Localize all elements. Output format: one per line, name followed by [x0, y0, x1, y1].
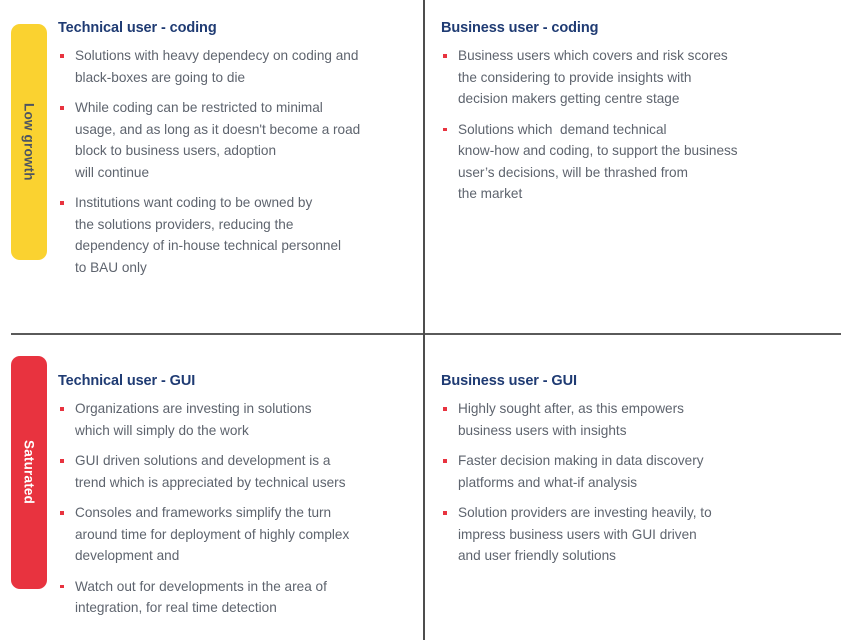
list-item: Highly sought after, as this empowers bu…: [441, 398, 801, 441]
list-item: Organizations are investing in solutions…: [58, 398, 406, 441]
quadrant-content: Technical user - coding Solutions with h…: [58, 20, 406, 278]
panel-title: Technical user - coding: [58, 20, 406, 36]
quadrant-business-user-coding: Medium growth Business user - coding Bus…: [425, 0, 852, 333]
list-item: Watch out for developments in the area o…: [58, 576, 406, 619]
growth-bar-low-growth: Low growth: [11, 24, 47, 260]
growth-bar-saturated: Saturated: [11, 356, 47, 589]
bullet-list: Organizations are investing in solutions…: [58, 398, 406, 619]
bullet-list: Solutions with heavy dependecy on coding…: [58, 45, 406, 278]
list-item: While coding can be restricted to minima…: [58, 97, 406, 183]
quadrant-business-user-gui: High growth Business user - GUI Highly s…: [425, 335, 852, 640]
quadrant-technical-user-coding: Low growth Technical user - coding Solut…: [0, 0, 423, 333]
bullet-list: Business users which covers and risk sco…: [441, 45, 801, 205]
panel-title: Business user - GUI: [441, 373, 801, 389]
list-item: GUI driven solutions and development is …: [58, 450, 406, 493]
bullet-list: Highly sought after, as this empowers bu…: [441, 398, 801, 567]
growth-bar-label: Saturated: [22, 440, 37, 504]
panel-title: Technical user - GUI: [58, 373, 406, 389]
two-by-two-matrix: Low growth Technical user - coding Solut…: [0, 0, 852, 640]
list-item: Business users which covers and risk sco…: [441, 45, 801, 110]
list-item: Solution providers are investing heavily…: [441, 502, 801, 567]
list-item: Solutions with heavy dependecy on coding…: [58, 45, 406, 88]
quadrant-technical-user-gui: Saturated Technical user - GUI Organizat…: [0, 335, 423, 640]
quadrant-content: Business user - GUI Highly sought after,…: [441, 373, 801, 567]
quadrant-content: Business user - coding Business users wh…: [441, 20, 801, 205]
quadrant-content: Technical user - GUI Organizations are i…: [58, 373, 406, 619]
panel-title: Business user - coding: [441, 20, 801, 36]
list-item: Institutions want coding to be owned by …: [58, 192, 406, 278]
list-item: Solutions which demand technical know-ho…: [441, 119, 801, 205]
list-item: Consoles and frameworks simplify the tur…: [58, 502, 406, 567]
list-item: Faster decision making in data discovery…: [441, 450, 801, 493]
growth-bar-label: Low growth: [22, 103, 37, 181]
